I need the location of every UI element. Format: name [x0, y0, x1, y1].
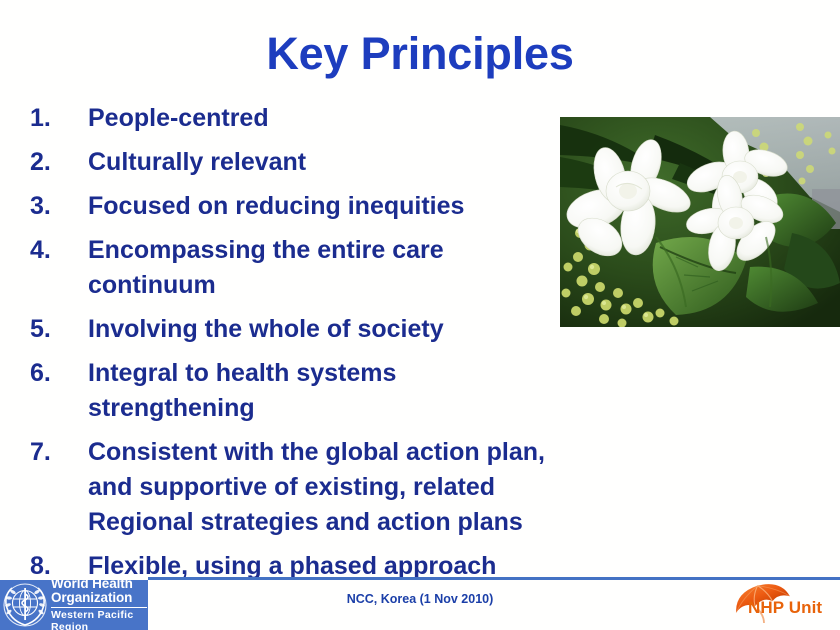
- who-line-2: Organization: [51, 591, 148, 605]
- footer-divider: [148, 577, 840, 580]
- list-item-number: 6.: [30, 356, 88, 391]
- list-item: 7. Consistent with the global action pla…: [30, 435, 650, 540]
- list-item-number: 4.: [30, 233, 88, 268]
- who-wordmark-rule: [51, 607, 147, 608]
- jasmine-flower-photo: [560, 117, 840, 327]
- list-item: 5. Involving the whole of society: [30, 312, 650, 347]
- list-item: 3. Focused on reducing inequities: [30, 189, 650, 224]
- who-region-label: Western Pacific Region: [51, 609, 148, 630]
- who-emblem-icon: [2, 582, 48, 628]
- nhp-unit-label: NHP Unit: [748, 598, 822, 618]
- principles-list: 1. People-centred 2. Culturally relevant…: [30, 101, 650, 593]
- list-item-number: 5.: [30, 312, 88, 347]
- list-item-text: Integral to health systems strengthening: [88, 356, 650, 426]
- page-title: Key Principles: [0, 30, 840, 77]
- who-logo: World Health Organization Western Pacifi…: [0, 580, 148, 630]
- list-item-number: 3.: [30, 189, 88, 224]
- list-item-number: 7.: [30, 435, 88, 470]
- slide-canvas: Key Principles 1. People-centred 2. Cult…: [0, 0, 840, 630]
- list-item-number: 8.: [30, 549, 88, 584]
- list-item-number: 1.: [30, 101, 88, 136]
- list-item-number: 2.: [30, 145, 88, 180]
- list-item: 6. Integral to health systems strengthen…: [30, 356, 650, 426]
- list-item: 1. People-centred: [30, 101, 650, 136]
- footer-event-label: NCC, Korea (1 Nov 2010): [240, 592, 600, 606]
- list-item: 4. Encompassing the entire care continuu…: [30, 233, 650, 303]
- who-wordmark: World Health Organization Western Pacifi…: [48, 580, 148, 630]
- list-item: 2. Culturally relevant: [30, 145, 650, 180]
- list-item-text: Consistent with the global action plan, …: [88, 435, 650, 540]
